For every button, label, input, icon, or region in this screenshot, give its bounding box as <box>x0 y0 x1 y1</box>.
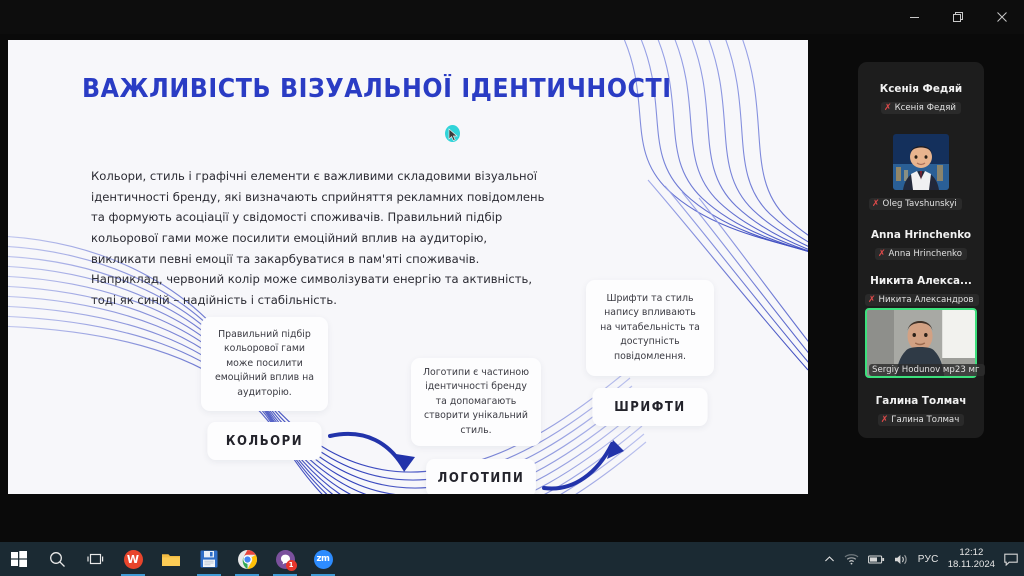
slide-title: ВАЖЛИВІСТЬ ВІЗУАЛЬНОЇ ІДЕНТИЧНОСТІ <box>82 74 672 104</box>
folder-icon <box>161 551 181 568</box>
restore-icon <box>952 11 964 23</box>
participant-tile-oleg[interactable]: ✗ Oleg Tavshunskyi <box>865 116 977 212</box>
participant-tile-kseniia[interactable]: Ксенія Федяй ✗ Ксенія Федяй <box>865 70 977 114</box>
zoom-button[interactable]: zm <box>304 542 342 576</box>
participant-name-label: ✗ Галина Толмач <box>878 414 965 426</box>
task-view-button[interactable] <box>76 542 114 576</box>
participant-label-text: Ксенія Федяй <box>895 103 956 113</box>
windows-logo-icon <box>11 551 27 567</box>
diagram-card-logos-tag[interactable]: ЛОГОТИПИ <box>426 459 536 494</box>
diagram-tag-label: ЛОГОТИПИ <box>438 471 525 486</box>
chrome-button[interactable] <box>228 542 266 576</box>
mic-off-icon: ✗ <box>878 250 886 259</box>
search-icon <box>49 551 66 568</box>
clock-time: 12:12 <box>948 547 995 559</box>
mic-off-icon: ✗ <box>868 296 876 305</box>
mic-off-icon: ✗ <box>881 416 889 425</box>
slide-body-text: Кольори, стиль і графічні елементи є важ… <box>91 166 546 310</box>
battery-glyph <box>868 554 885 565</box>
participant-name-header: Ксенія Федяй <box>865 70 977 99</box>
wifi-icon[interactable] <box>844 553 859 565</box>
volume-icon[interactable] <box>894 553 909 566</box>
participant-tile-halyna[interactable]: Галина Толмач ✗ Галина Толмач <box>865 382 977 426</box>
mouse-pointer-icon <box>448 128 460 142</box>
participant-name-header: Галина Толмач <box>865 382 977 411</box>
clock[interactable]: 12:12 18.11.2024 <box>948 547 995 571</box>
participant-label-text: Oleg Tavshunskyi <box>883 199 957 209</box>
system-tray: РУС 12:12 18.11.2024 <box>824 542 1024 576</box>
zoom-participant-panel[interactable]: Ксенія Федяй ✗ Ксенія Федяй <box>858 62 984 438</box>
notification-icon[interactable] <box>1004 553 1018 566</box>
participant-name-header: Anna Hrinchenko <box>865 216 977 245</box>
participant-tile-nikita[interactable]: Никита Алекса... ✗ Никита Александров <box>865 262 977 306</box>
participant-name-label: ✗ Oleg Tavshunskyi <box>869 198 962 210</box>
start-button[interactable] <box>0 542 38 576</box>
participant-name-label: ✗ Ксенія Федяй <box>881 102 961 114</box>
wps-office-icon: W <box>124 550 143 569</box>
diagram-card-colors-description: Правильний підбір кольорової гами може п… <box>201 317 328 411</box>
taskbar-items: W <box>0 542 342 576</box>
wifi-glyph <box>844 553 859 565</box>
participant-name-label: Sergiy Hodunov мр23 мг <box>869 364 985 376</box>
chrome-icon <box>238 550 257 569</box>
diagram-tag-label: КОЛЬОРИ <box>226 434 303 449</box>
restore-button[interactable] <box>936 0 980 34</box>
diagram-card-colors-tag[interactable]: КОЛЬОРИ <box>207 422 321 460</box>
floppy-disk-icon <box>200 550 218 568</box>
participant-label-text: Никита Александров <box>879 295 974 305</box>
participant-name-label: ✗ Никита Александров <box>865 294 979 306</box>
diagram-card-fonts-description: Шрифти та стиль напису впливають на чита… <box>586 280 714 376</box>
mic-off-icon: ✗ <box>884 104 892 113</box>
close-button[interactable] <box>980 0 1024 34</box>
avatar-photo-icon <box>893 134 949 190</box>
close-icon <box>996 11 1008 23</box>
diagram-card-logos-description: Логотипи є частиною ідентичності бренду … <box>411 358 541 446</box>
diagram-card-fonts-tag[interactable]: ШРИФТИ <box>592 388 707 426</box>
volume-glyph <box>894 553 909 566</box>
avatar <box>893 134 949 190</box>
minimize-button[interactable] <box>892 0 936 34</box>
participant-label-text: Anna Hrinchenko <box>889 249 962 259</box>
minimize-icon <box>909 12 920 23</box>
windows-taskbar: W <box>0 542 1024 576</box>
diagram-tag-label: ШРИФТИ <box>614 400 685 415</box>
participant-tile-anna[interactable]: Anna Hrinchenko ✗ Anna Hrinchenko <box>865 216 977 260</box>
mic-off-icon: ✗ <box>872 200 880 209</box>
participant-name-header: Никита Алекса... <box>865 262 977 291</box>
file-explorer-button[interactable] <box>152 542 190 576</box>
battery-icon[interactable] <box>868 554 885 565</box>
save-app-button[interactable] <box>190 542 228 576</box>
viber-badge: 1 <box>286 560 297 571</box>
chevron-up-icon[interactable] <box>824 555 835 564</box>
zoom-icon: zm <box>314 550 333 569</box>
participant-label-text: Sergiy Hodunov мр23 мг <box>872 365 980 375</box>
viber-icon: 1 <box>276 550 295 569</box>
chevron-up-glyph <box>824 555 835 564</box>
action-center-glyph <box>1004 553 1018 566</box>
window-title-bar <box>0 0 1024 34</box>
participant-name-label: ✗ Anna Hrinchenko <box>875 248 967 260</box>
clock-date: 18.11.2024 <box>948 559 995 571</box>
participant-label-text: Галина Толмач <box>891 415 959 425</box>
shared-screen-slide[interactable]: ВАЖЛИВІСТЬ ВІЗУАЛЬНОЇ ІДЕНТИЧНОСТІ Кольо… <box>8 40 808 494</box>
viber-button[interactable]: 1 <box>266 542 304 576</box>
language-indicator[interactable]: РУС <box>918 554 939 565</box>
participant-tile-sergiy-active-speaker[interactable]: Sergiy Hodunov мр23 мг <box>865 308 977 378</box>
search-button[interactable] <box>38 542 76 576</box>
wps-office-button[interactable]: W <box>114 542 152 576</box>
task-view-icon <box>87 552 104 567</box>
